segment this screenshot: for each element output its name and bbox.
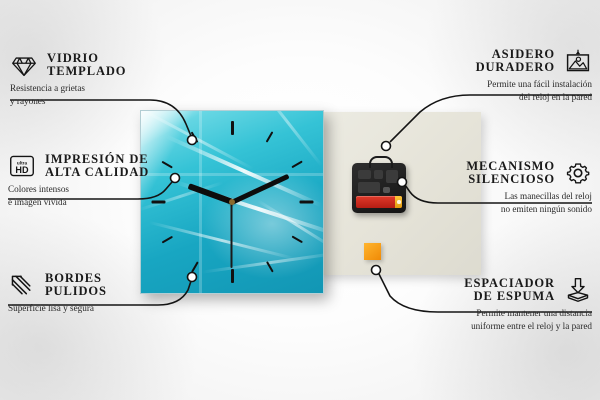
mechanism-detail xyxy=(358,182,380,193)
foam-spacer-icon xyxy=(564,277,592,303)
feature-title-line2: SILENCIOSO xyxy=(466,173,555,186)
feature-titles: VIDRIO TEMPLADO xyxy=(47,52,126,78)
picture-frame-icon xyxy=(564,48,592,74)
feature-titles: IMPRESIÓN DE ALTA CALIDAD xyxy=(45,153,149,179)
diamond-icon xyxy=(10,52,38,78)
mechanism-detail xyxy=(374,170,383,179)
feature-title-line2: PULIDOS xyxy=(45,285,107,298)
infographic-canvas: VIDRIO TEMPLADO Resistencia a grietas y … xyxy=(0,0,600,400)
feature-mecanismo-silencioso: MECANISMO SILENCIOSO Las manecillas del … xyxy=(392,160,592,215)
feature-description: Resistencia a grietas y rayones xyxy=(10,82,190,107)
feature-vidrio-templado: VIDRIO TEMPLADO Resistencia a grietas y … xyxy=(10,52,190,107)
ultra-hd-icon: ultra HD xyxy=(8,153,36,179)
feature-header: VIDRIO TEMPLADO xyxy=(10,52,190,78)
feature-description: Permite una fácil instalación del reloj … xyxy=(392,78,592,103)
feature-header: ASIDERO DURADERO xyxy=(392,48,592,74)
feature-title-line2: DE ESPUMA xyxy=(464,290,555,303)
feature-header: ultra HD IMPRESIÓN DE ALTA CALIDAD xyxy=(8,153,188,179)
feature-description: Colores intensos e imagen vívida xyxy=(8,183,188,208)
mechanism-detail xyxy=(383,187,390,193)
feature-titles: ASIDERO DURADERO xyxy=(476,48,555,74)
feature-title-line2: DURADERO xyxy=(476,61,555,74)
feature-titles: MECANISMO SILENCIOSO xyxy=(466,160,555,186)
mechanism-detail xyxy=(358,170,371,179)
feature-title-line2: TEMPLADO xyxy=(47,65,126,78)
feature-titles: ESPACIADOR DE ESPUMA xyxy=(464,277,555,303)
feature-bordes-pulidos: BORDES PULIDOS Superficie lisa y segura xyxy=(8,272,193,315)
gear-icon xyxy=(564,160,592,186)
feature-header: ESPACIADOR DE ESPUMA xyxy=(382,277,592,303)
feature-description: Las manecillas del reloj no emiten ningú… xyxy=(392,190,592,215)
feature-description: Permite mantener una distancia uniforme … xyxy=(382,307,592,332)
polished-edges-icon xyxy=(8,272,36,298)
feature-impresion-alta-calidad: ultra HD IMPRESIÓN DE ALTA CALIDAD Color… xyxy=(8,153,188,208)
feature-titles: BORDES PULIDOS xyxy=(45,272,107,298)
feature-header: MECANISMO SILENCIOSO xyxy=(392,160,592,186)
feature-header: BORDES PULIDOS xyxy=(8,272,193,298)
clock-center-cap xyxy=(229,199,235,205)
svg-text:HD: HD xyxy=(15,165,29,175)
feature-asidero-duradero: ASIDERO DURADERO Permite una fácil insta… xyxy=(392,48,592,103)
feature-espaciador-espuma: ESPACIADOR DE ESPUMA Permite mantener un… xyxy=(382,277,592,332)
orange-foam-spacer xyxy=(364,243,381,260)
mechanism-hanger-hook xyxy=(369,156,393,168)
feature-title-line2: ALTA CALIDAD xyxy=(45,166,149,179)
feature-description: Superficie lisa y segura xyxy=(8,302,193,315)
